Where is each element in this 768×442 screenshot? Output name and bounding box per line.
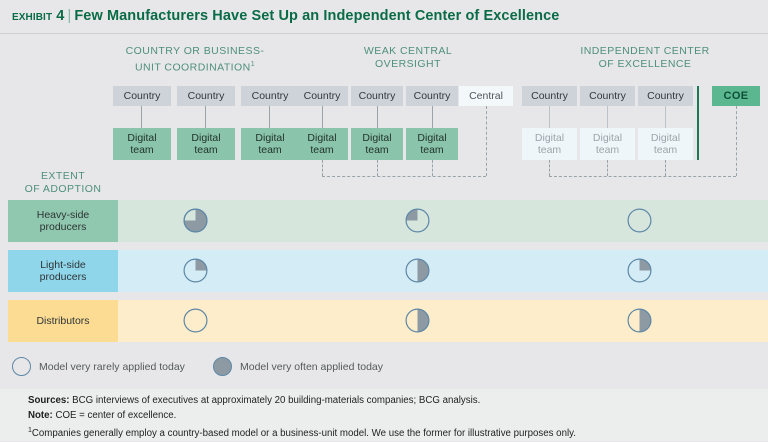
adoption-marker <box>627 208 652 233</box>
dashed-connector <box>549 176 736 177</box>
dashed-connector <box>486 106 487 176</box>
connector-line <box>205 106 206 128</box>
empty-circle-icon <box>12 357 31 376</box>
connector-line <box>432 106 433 128</box>
row-band-distributors <box>118 300 768 342</box>
node-label: Country <box>252 90 289 102</box>
node-country[interactable]: Country <box>296 86 348 106</box>
legend-label: Model very often applied today <box>240 361 383 373</box>
group-header-independent-center-of-excellence: INDEPENDENT CENTER OF EXCELLENCE <box>545 45 745 71</box>
node-label-line1: Digital <box>255 132 284 144</box>
connector-line <box>607 106 608 128</box>
node-label: Country <box>359 90 396 102</box>
node-label-line1: Digital <box>417 132 446 144</box>
footnote-sources: Sources: BCG interviews of executives at… <box>28 393 758 409</box>
connector-line <box>269 106 270 128</box>
group-header-line2: UNIT COORDINATION <box>135 62 251 74</box>
extent-line2: OF ADOPTION <box>25 183 102 195</box>
extent-line1: EXTENT <box>41 170 85 182</box>
row-band-light-side-producers <box>118 250 768 292</box>
connector-line <box>322 106 323 128</box>
footnote-note: Note: COE = center of excellence. <box>28 408 758 424</box>
node-country[interactable]: Country <box>241 86 299 106</box>
title-separator: | <box>64 8 74 24</box>
footnote-note-text: COE = center of excellence. <box>53 410 177 421</box>
node-label: Country <box>589 90 626 102</box>
node-country[interactable]: Country <box>113 86 171 106</box>
legend-item-rarely-applied: Model very rarely applied today <box>12 357 185 376</box>
node-label: COE <box>723 90 748 102</box>
node-digital-team[interactable]: Digitalteam <box>177 128 235 160</box>
node-digital-team[interactable]: Digitalteam <box>296 128 348 160</box>
legend-label: Model very rarely applied today <box>39 361 185 373</box>
title-divider <box>0 33 768 34</box>
adoption-marker <box>627 258 652 283</box>
node-label-line1: Digital <box>127 132 156 144</box>
node-label: Country <box>647 90 684 102</box>
node-label-line2: team <box>310 144 333 156</box>
footnote-sources-text: BCG interviews of executives at approxim… <box>69 395 480 406</box>
exhibit-canvas: Exhibit 4|Few Manufacturers Have Set Up … <box>0 0 768 441</box>
page-title: Exhibit 4|Few Manufacturers Have Set Up … <box>12 8 756 32</box>
legend-item-often-applied: Model very often applied today <box>213 357 383 376</box>
node-label: Country <box>304 90 341 102</box>
node-country[interactable]: Country <box>351 86 403 106</box>
dashed-connector <box>432 160 433 176</box>
node-label-line2: team <box>654 144 677 156</box>
adoption-marker <box>183 308 208 333</box>
group-header-line1: COUNTRY OR BUSINESS- <box>126 45 265 57</box>
node-digital-team[interactable]: Digitalteam <box>351 128 403 160</box>
adoption-marker <box>405 308 430 333</box>
adoption-marker <box>405 208 430 233</box>
dashed-connector <box>665 160 666 176</box>
dashed-connector <box>377 160 378 176</box>
extent-of-adoption-label: EXTENT OF ADOPTION <box>8 170 118 196</box>
node-country[interactable]: Country <box>580 86 635 106</box>
adoption-marker <box>183 258 208 283</box>
node-country[interactable]: Country <box>406 86 458 106</box>
row-label-line1: Distributors <box>36 315 89 327</box>
group-header-line2: OVERSIGHT <box>375 58 441 70</box>
node-label-line1: Digital <box>535 132 564 144</box>
legend: Model very rarely applied today Model ve… <box>8 355 768 381</box>
dashed-connector <box>607 160 608 176</box>
group-header-line1: INDEPENDENT CENTER <box>580 45 709 57</box>
row-label-distributors: Distributors <box>8 300 118 342</box>
node-digital-team[interactable]: Digitalteam <box>638 128 693 160</box>
row-label-heavy-side-producers: Heavy-sideproducers <box>8 200 118 242</box>
node-digital-team[interactable]: Digitalteam <box>522 128 577 160</box>
node-label-line1: Digital <box>362 132 391 144</box>
footnote-1-text: Companies generally employ a country-bas… <box>32 428 576 439</box>
node-label-line1: Digital <box>307 132 336 144</box>
node-country[interactable]: Country <box>638 86 693 106</box>
node-label-line2: team <box>538 144 561 156</box>
adoption-marker <box>405 258 430 283</box>
footnote-marker: 1 <box>251 61 255 68</box>
node-country[interactable]: Country <box>177 86 235 106</box>
group-header-country-or-business-unit-coordination: COUNTRY OR BUSINESS- UNIT COORDINATION1 <box>100 45 290 75</box>
group-header-weak-central-oversight: WEAK CENTRAL OVERSIGHT <box>318 45 498 71</box>
footnote-1: 1Companies generally employ a country-ba… <box>28 423 758 442</box>
node-coe[interactable]: COE <box>712 86 760 106</box>
row-band-heavy-side-producers <box>118 200 768 242</box>
node-digital-team[interactable]: Digitalteam <box>580 128 635 160</box>
filled-circle-icon <box>213 357 232 376</box>
node-label-line2: team <box>258 144 281 156</box>
dashed-connector <box>736 106 737 176</box>
node-central[interactable]: Central <box>459 86 513 106</box>
node-label: Country <box>124 90 161 102</box>
connector-line <box>665 106 666 128</box>
node-label-line2: team <box>130 144 153 156</box>
group-divider-bar <box>697 86 699 160</box>
node-label: Country <box>188 90 225 102</box>
adoption-marker <box>627 308 652 333</box>
connector-line <box>549 106 550 128</box>
row-label-light-side-producers: Light-sideproducers <box>8 250 118 292</box>
node-label: Central <box>469 90 503 102</box>
row-label-line1: Light-side <box>40 259 86 271</box>
node-label: Country <box>531 90 568 102</box>
dashed-connector <box>549 160 550 176</box>
connector-line <box>141 106 142 128</box>
adoption-marker <box>183 208 208 233</box>
node-digital-team[interactable]: Digitalteam <box>241 128 299 160</box>
node-label-line1: Digital <box>593 132 622 144</box>
title-text: Few Manufacturers Have Set Up an Indepen… <box>74 8 559 24</box>
node-label: Country <box>414 90 451 102</box>
node-label-line2: team <box>420 144 443 156</box>
node-digital-team[interactable]: Digitalteam <box>113 128 171 160</box>
node-digital-team[interactable]: Digitalteam <box>406 128 458 160</box>
node-label-line1: Digital <box>651 132 680 144</box>
node-label-line2: team <box>596 144 619 156</box>
row-label-line2: producers <box>40 221 87 233</box>
footnote-note-label: Note: <box>28 410 53 421</box>
node-label-line2: team <box>365 144 388 156</box>
group-header-line1: WEAK CENTRAL <box>364 45 452 57</box>
node-country[interactable]: Country <box>522 86 577 106</box>
node-label-line2: team <box>194 144 217 156</box>
footnotes-area: Sources: BCG interviews of executives at… <box>0 389 768 441</box>
connector-line <box>377 106 378 128</box>
row-label-line2: producers <box>40 271 87 283</box>
row-label-line1: Heavy-side <box>37 209 90 221</box>
dashed-connector <box>322 160 323 176</box>
exhibit-number: Exhibit 4 <box>12 8 64 24</box>
dashed-connector <box>322 176 486 177</box>
group-header-line2: OF EXCELLENCE <box>599 58 692 70</box>
node-label-line1: Digital <box>191 132 220 144</box>
footnote-sources-label: Sources: <box>28 395 69 406</box>
